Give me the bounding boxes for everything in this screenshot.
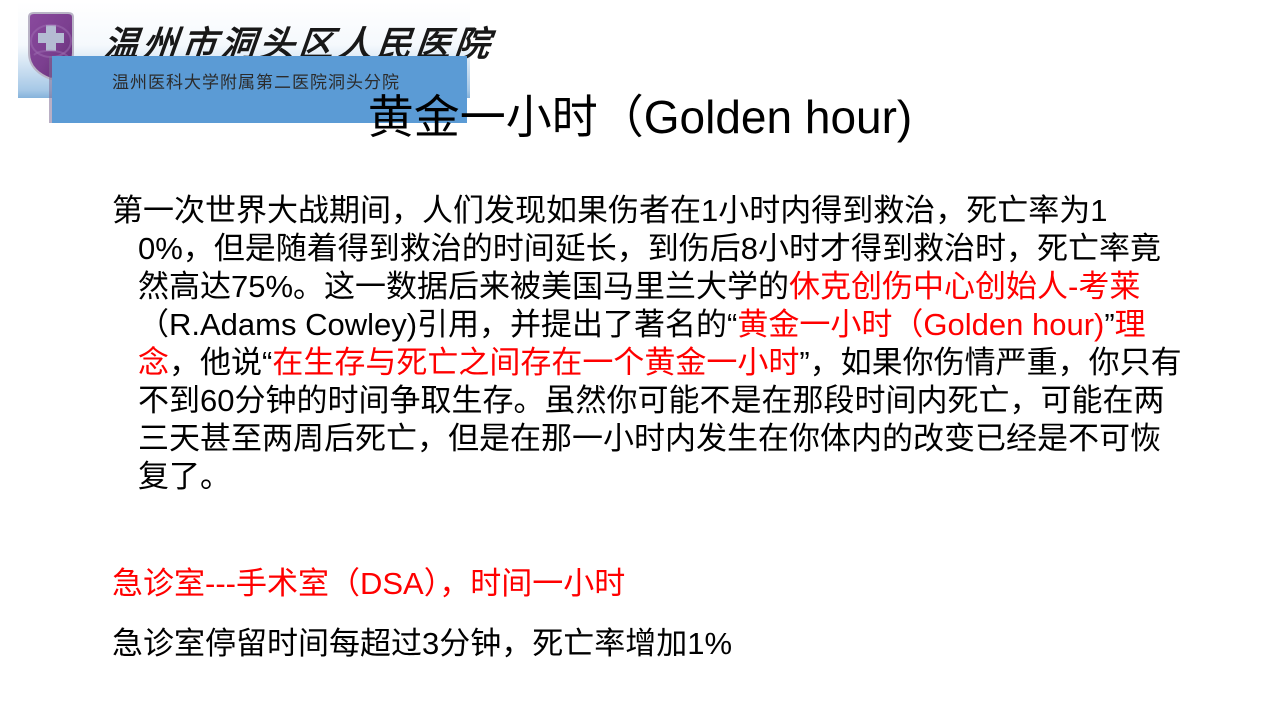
emergency-room-line: 急诊室---手术室（DSA），时间一小时 xyxy=(112,565,625,603)
body-text-run: 休克创伤中心创始人-考莱 xyxy=(789,269,1140,304)
page-title: 黄金一小时（Golden hour) xyxy=(0,92,1280,143)
body-paragraph: 第一次世界大战期间，人们发现如果伤者在1小时内得到救治，死亡率为10%，但是随着… xyxy=(112,192,1182,496)
body-text-run: 黄金一小时（Golden hour) xyxy=(737,307,1104,342)
body-text-run: ，他说“ xyxy=(169,345,272,380)
presentation-slide: 温州市洞头区人民医院 温州医科大学附属第二医院洞头分院 黄金一小时（Golden… xyxy=(0,0,1280,720)
slide-body: 第一次世界大战期间，人们发现如果伤者在1小时内得到救治，死亡率为10%，但是随着… xyxy=(112,192,1182,496)
hospital-banner-subtitle: 温州医科大学附属第二医院洞头分院 xyxy=(112,68,400,93)
body-text-run: （R.Adams Cowley)引用，并提出了著名的“ xyxy=(138,307,737,342)
mortality-footer-line: 急诊室停留时间每超过3分钟，死亡率增加1% xyxy=(112,625,732,663)
body-text-run: ” xyxy=(1104,307,1114,342)
body-text-run: 在生存与死亡之间存在一个黄金一小时 xyxy=(272,345,799,380)
